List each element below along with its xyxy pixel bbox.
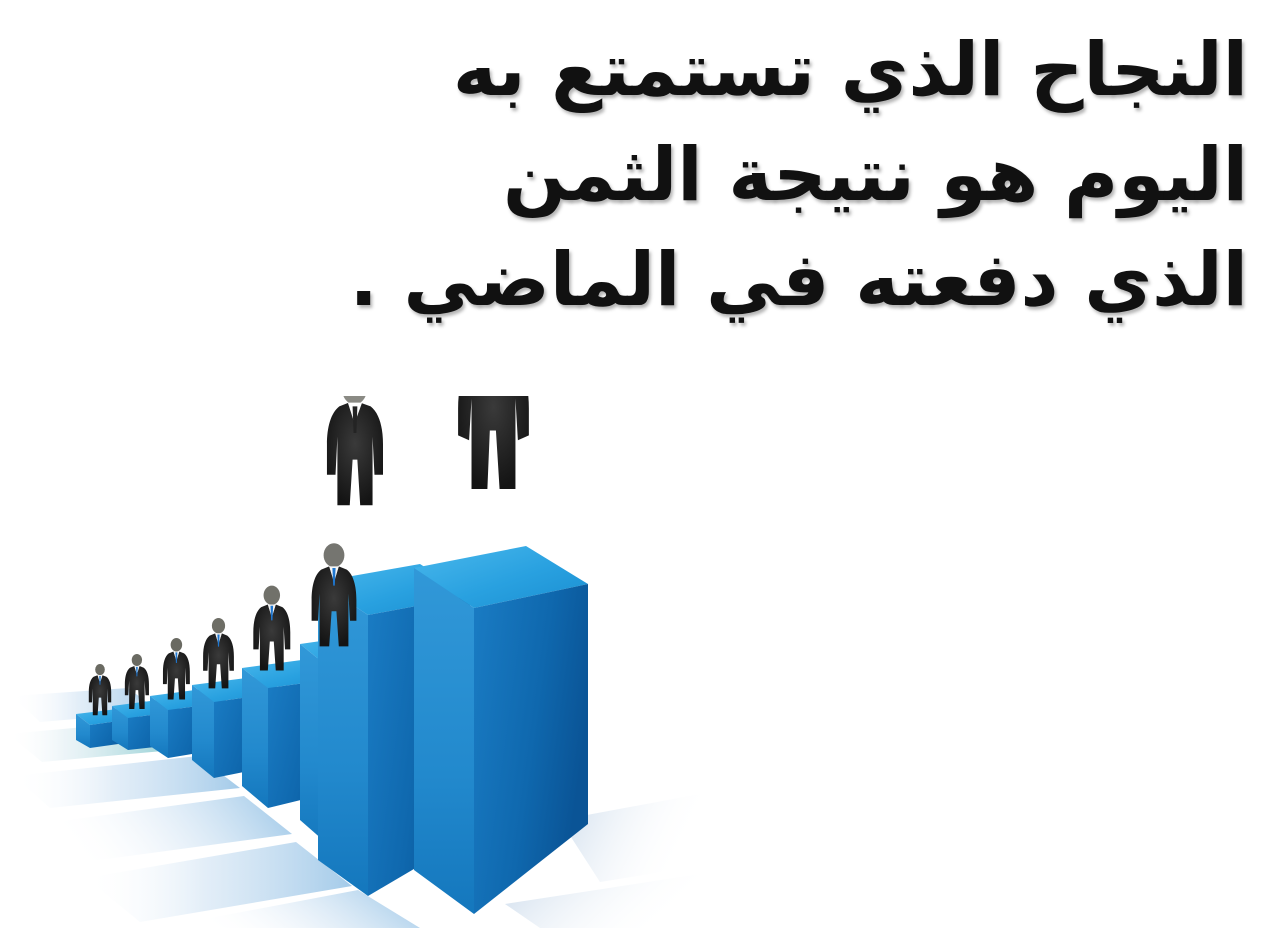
figure-body xyxy=(458,396,529,489)
figure-head xyxy=(212,618,225,633)
bar-5-front xyxy=(242,668,268,808)
businessman-figure-3 xyxy=(163,638,190,699)
figure-head xyxy=(264,586,281,605)
floor-shadow-right-2 xyxy=(505,874,700,928)
growth-chart-illustration xyxy=(0,396,700,928)
quote-block: النجاح الذي تستمتع به اليوم هو نتيجة الث… xyxy=(0,18,1248,333)
bar-8-side xyxy=(474,584,588,914)
businessman-figure-4 xyxy=(203,618,234,688)
figure-head xyxy=(95,664,105,675)
businessman-figure-5 xyxy=(253,586,290,671)
figure-head xyxy=(132,654,142,666)
quote-line-2: اليوم هو نتيجة الثمن xyxy=(0,123,1248,228)
businessman-figure-8-winner xyxy=(454,396,538,489)
figure-head xyxy=(324,543,345,567)
bar-8-front xyxy=(414,568,474,914)
poster-canvas: النجاح الذي تستمتع به اليوم هو نتيجة الث… xyxy=(0,0,1280,928)
quote-line-1: النجاح الذي تستمتع به xyxy=(0,18,1248,123)
quote-line-3: الذي دفعته في الماضي . xyxy=(0,228,1248,333)
businessman-figure-7 xyxy=(327,396,383,505)
figure-head xyxy=(171,638,183,651)
bar-8 xyxy=(414,546,588,914)
chart-svg xyxy=(0,396,700,928)
